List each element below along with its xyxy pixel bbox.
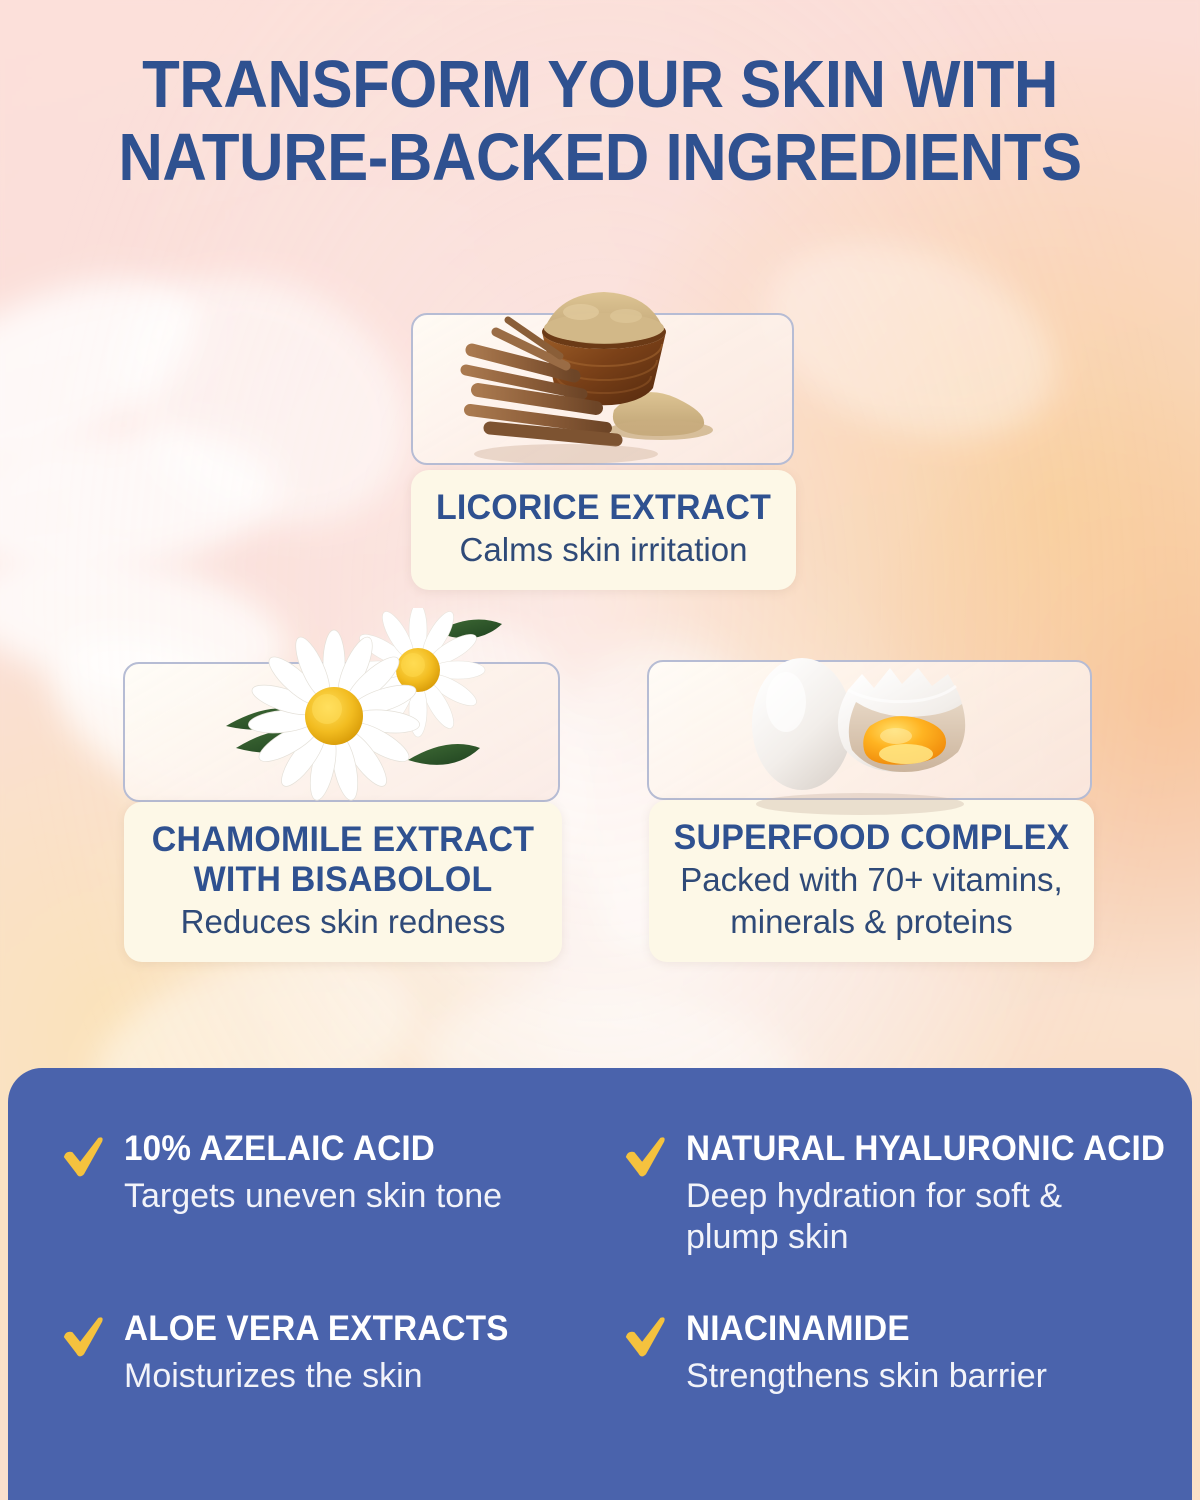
benefit-item-azelaic-acid[interactable]: 10% AZELAIC ACID Targets uneven skin ton…: [60, 1130, 588, 1258]
chamomile-description: Reduces skin redness: [138, 903, 548, 942]
licorice-description: Calms skin irritation: [425, 531, 782, 570]
check-icon: [622, 1134, 668, 1180]
benefit-item-hyaluronic-acid[interactable]: NATURAL HYALURONIC ACID Deep hydration f…: [622, 1130, 1190, 1258]
chamomile-title-line-2: WITH BISABOLOL: [144, 860, 542, 900]
benefit-title: NIACINAMIDE: [686, 1310, 1029, 1349]
chamomile-photo-area: [125, 664, 558, 804]
ingredient-card-licorice[interactable]: LICORICE EXTRACT Calms skin irritation: [411, 313, 794, 465]
licorice-label-panel: LICORICE EXTRACT Calms skin irritation: [411, 470, 796, 590]
benefit-text: NATURAL HYALURONIC ACID Deep hydration f…: [686, 1130, 1190, 1258]
ingredient-card-chamomile[interactable]: CHAMOMILE EXTRACT WITH BISABOLOL Reduces…: [123, 662, 560, 802]
benefit-description: Deep hydration for soft & plump skin: [686, 1176, 1156, 1259]
check-icon: [60, 1134, 106, 1180]
superfood-description-line-2: minerals & proteins: [663, 903, 1080, 942]
benefit-text: 10% AZELAIC ACID Targets uneven skin ton…: [124, 1130, 502, 1217]
superfood-photo-area: [649, 662, 1090, 802]
chamomile-title-line-1: CHAMOMILE EXTRACT: [144, 820, 542, 860]
ingredient-card-superfood[interactable]: SUPERFOOD COMPLEX Packed with 70+ vitami…: [647, 660, 1092, 800]
superfood-title: SUPERFOOD COMPLEX: [669, 818, 1073, 858]
licorice-title: LICORICE EXTRACT: [430, 488, 776, 528]
licorice-photo-area: [413, 315, 792, 467]
benefit-item-niacinamide[interactable]: NIACINAMIDE Strengthens skin barrier: [622, 1310, 1190, 1397]
benefit-item-aloe-vera[interactable]: ALOE VERA EXTRACTS Moisturizes the skin: [60, 1310, 588, 1397]
benefit-description: Moisturizes the skin: [124, 1356, 529, 1397]
benefit-text: ALOE VERA EXTRACTS Moisturizes the skin: [124, 1310, 529, 1397]
superfood-label-panel: SUPERFOOD COMPLEX Packed with 70+ vitami…: [649, 800, 1094, 962]
check-icon: [60, 1314, 106, 1360]
superfood-description-line-1: Packed with 70+ vitamins,: [663, 861, 1080, 900]
page-title-line-2: NATURE-BACKED INGREDIENTS: [48, 121, 1152, 194]
chamomile-label-panel: CHAMOMILE EXTRACT WITH BISABOLOL Reduces…: [124, 802, 562, 962]
check-icon: [622, 1314, 668, 1360]
page-title-line-1: TRANSFORM YOUR SKIN WITH: [48, 48, 1152, 121]
benefit-title: 10% AZELAIC ACID: [124, 1130, 483, 1169]
benefit-title: NATURAL HYALURONIC ACID: [686, 1130, 1165, 1169]
benefit-description: Targets uneven skin tone: [124, 1176, 502, 1217]
benefit-description: Strengthens skin barrier: [686, 1356, 1047, 1397]
benefits-grid: 10% AZELAIC ACID Targets uneven skin ton…: [60, 1130, 1148, 1397]
benefits-panel: 10% AZELAIC ACID Targets uneven skin ton…: [8, 1068, 1192, 1500]
benefit-text: NIACINAMIDE Strengthens skin barrier: [686, 1310, 1047, 1397]
ingredients-infographic: TRANSFORM YOUR SKIN WITH NATURE-BACKED I…: [0, 0, 1200, 1500]
page-title: TRANSFORM YOUR SKIN WITH NATURE-BACKED I…: [48, 48, 1152, 194]
benefit-title: ALOE VERA EXTRACTS: [124, 1310, 509, 1349]
